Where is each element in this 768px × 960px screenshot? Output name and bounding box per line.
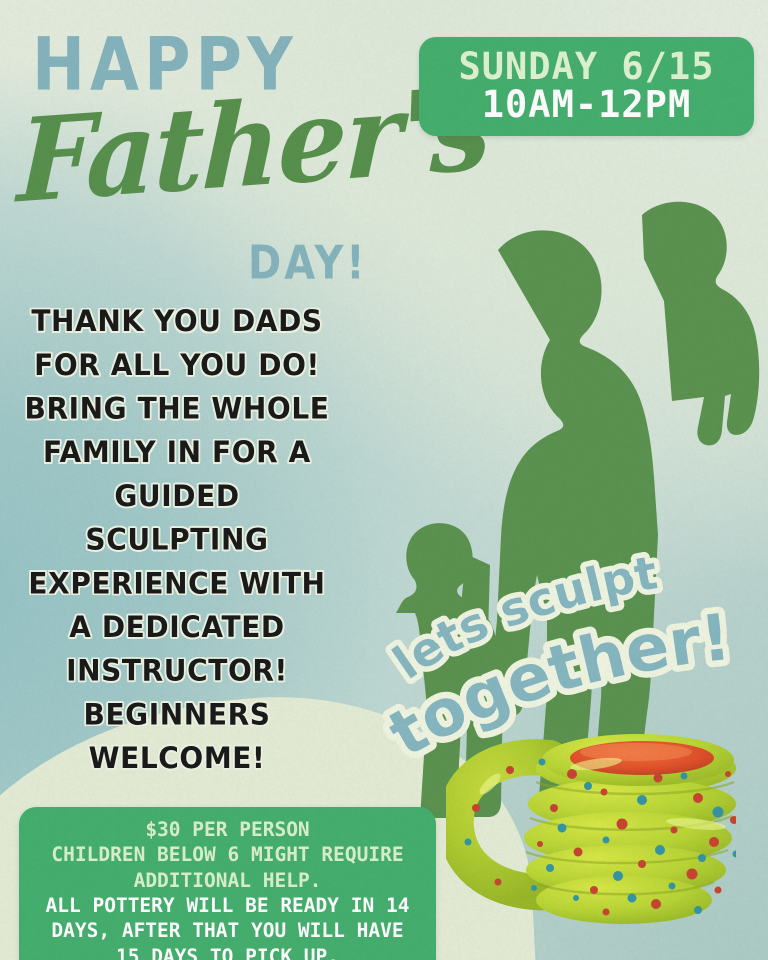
headline-day: DAY! bbox=[248, 237, 368, 290]
pricing-info-box: $30 PER PERSONCHILDREN BELOW 6 MIGHT REQ… bbox=[19, 807, 436, 960]
body-copy-line: A DEDICATED bbox=[8, 606, 346, 650]
body-copy-line: WELCOME! bbox=[8, 737, 346, 781]
event-date: SUNDAY 6/15 bbox=[435, 48, 738, 86]
body-copy: THANK YOU DADSFOR ALL YOU DO!BRING THE W… bbox=[8, 300, 346, 780]
body-copy-line: SCULPTING bbox=[8, 518, 346, 562]
pricing-info-line: 15 DAYS TO PICK UP. bbox=[27, 944, 428, 960]
body-copy-line: BRING THE WHOLE bbox=[8, 387, 346, 431]
pricing-info-line: ADDITIONAL HELP. bbox=[27, 868, 428, 893]
pricing-info-line: ALL POTTERY WILL BE READY IN 14 bbox=[27, 893, 428, 918]
body-copy-line: EXPERIENCE WITH bbox=[8, 562, 346, 606]
body-copy-line: FOR ALL YOU DO! bbox=[8, 344, 346, 388]
body-copy-line: GUIDED bbox=[8, 475, 346, 519]
poster-canvas: lets sculpt together! bbox=[0, 0, 768, 960]
pricing-info-line: CHILDREN BELOW 6 MIGHT REQUIRE bbox=[27, 842, 428, 867]
pottery-mug-photo bbox=[446, 712, 764, 944]
pricing-info-line: DAYS, AFTER THAT YOU WILL HAVE bbox=[27, 918, 428, 943]
body-copy-line: INSTRUCTOR! bbox=[8, 649, 346, 693]
body-copy-line: THANK YOU DADS bbox=[8, 300, 346, 344]
body-copy-line: BEGINNERS bbox=[8, 693, 346, 737]
event-date-badge: SUNDAY 6/15 10AM-12PM bbox=[419, 37, 754, 136]
event-time: 10AM-12PM bbox=[435, 86, 738, 124]
body-copy-line: FAMILY IN FOR A bbox=[8, 431, 346, 475]
pricing-info-line: $30 PER PERSON bbox=[27, 817, 428, 842]
